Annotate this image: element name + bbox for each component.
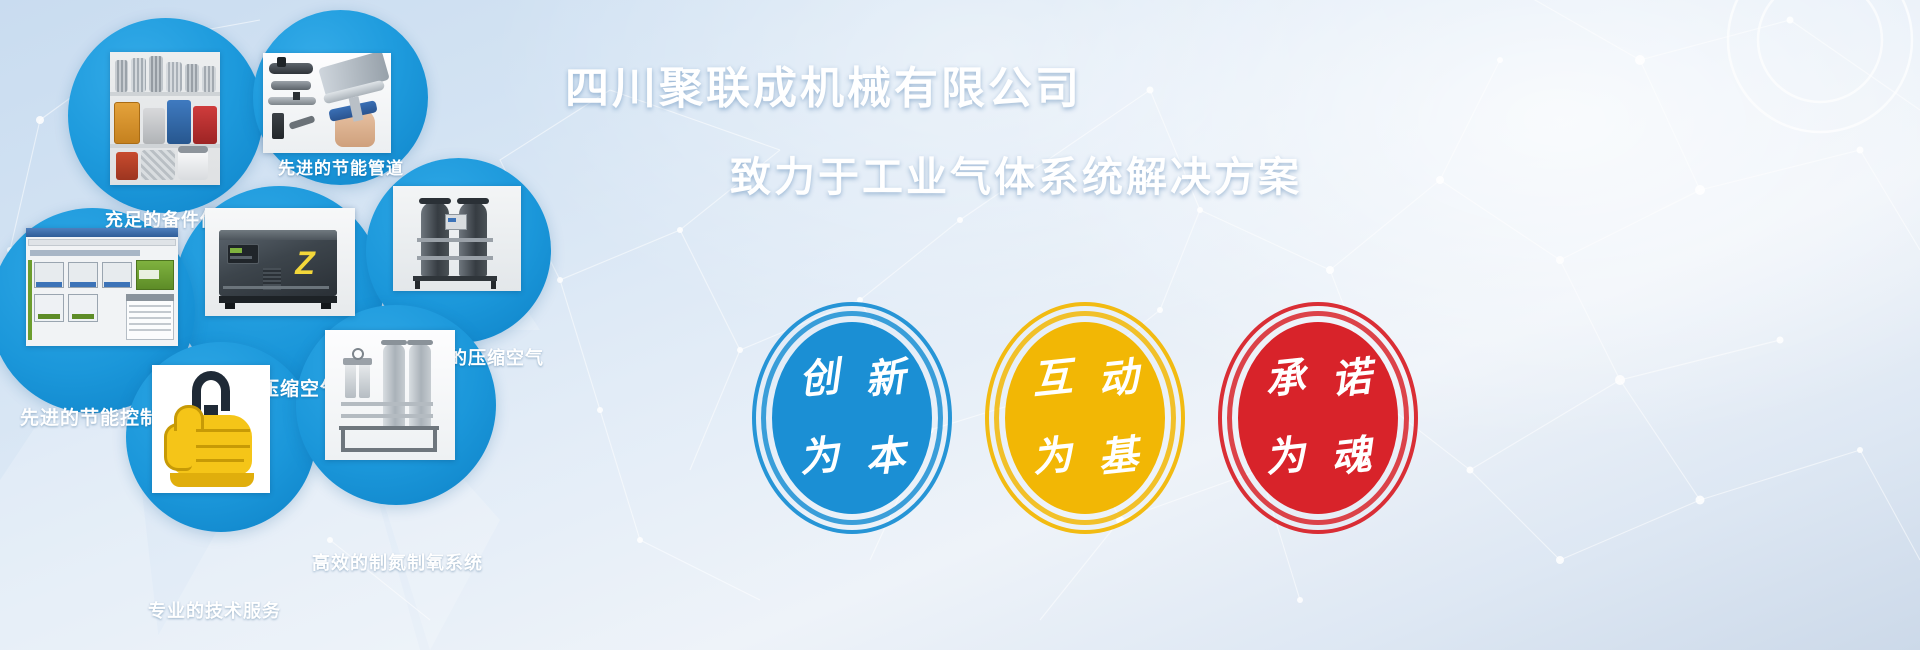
seal-char: 魂 (1329, 435, 1373, 479)
seal-char: 基 (1096, 435, 1140, 479)
seal-char: 为 (1263, 435, 1307, 479)
seal-char: 诺 (1329, 357, 1373, 401)
company-subtitle: 致力于工业气体系统解决方案 (730, 143, 1302, 203)
seal-characters: 承 诺 为 魂 (1238, 322, 1398, 514)
seal-char: 创 (797, 357, 841, 401)
seal-characters: 互 动 为 基 (1005, 322, 1165, 514)
seal-char: 动 (1096, 357, 1140, 401)
photo-technical-service (152, 365, 270, 493)
seal-char: 为 (1030, 435, 1074, 479)
caption-energy-piping: 先进的节能管道 (278, 154, 404, 179)
company-hero-banner: 充足的备件供应 先进的节能管道 (0, 0, 1920, 650)
photo-spare-parts (110, 52, 220, 185)
caption-nitrogen-oxygen: 高效的制氮制氧系统 (312, 549, 483, 575)
seal-char: 本 (863, 435, 907, 479)
photo-compressed-air (393, 186, 521, 291)
seal-char: 为 (797, 435, 841, 479)
company-title: 四川聚联成机械有限公司 (565, 52, 1082, 116)
seal-char: 新 (863, 357, 907, 401)
feature-photo-cluster: 充足的备件供应 先进的节能管道 (0, 0, 620, 650)
photo-air-compressor: Z (205, 208, 355, 316)
seal-commitment: 承 诺 为 魂 (1218, 302, 1418, 534)
photo-energy-piping (263, 53, 391, 153)
seal-innovation: 创 新 为 本 (752, 302, 952, 534)
photo-nitrogen-oxygen (325, 330, 455, 460)
photo-control-system (26, 228, 178, 346)
seal-interaction: 互 动 为 基 (985, 302, 1185, 534)
seal-char: 承 (1263, 357, 1307, 401)
seal-characters: 创 新 为 本 (772, 322, 932, 514)
caption-technical-service: 专业的技术服务 (148, 597, 281, 623)
seal-char: 互 (1030, 357, 1074, 401)
